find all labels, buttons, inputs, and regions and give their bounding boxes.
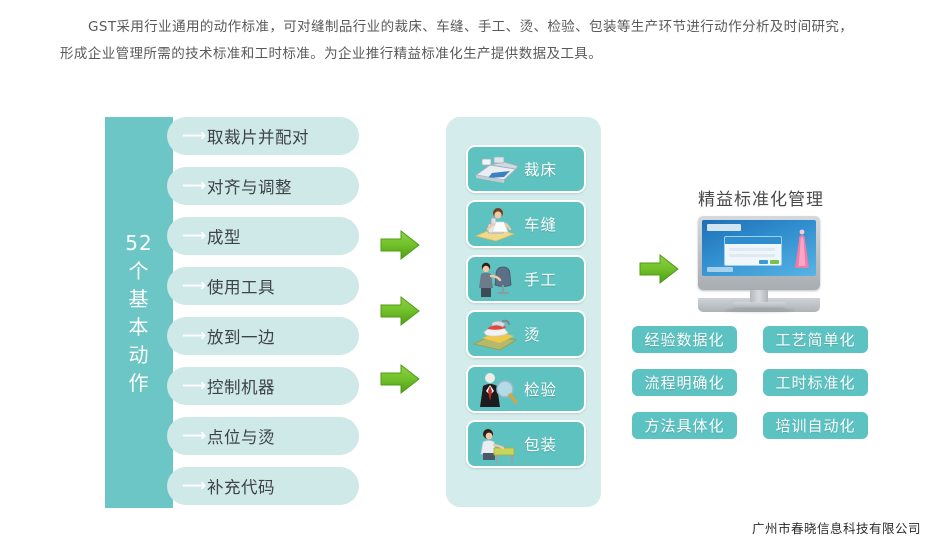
motion-row[interactable]: ⟶ 取裁片并配对 — [167, 117, 359, 155]
arrow-right-green-icon — [379, 229, 421, 261]
sewing-worker-icon — [470, 204, 522, 244]
motion-row[interactable]: ⟶ 控制机器 — [167, 367, 359, 405]
motion-count-char-0: 52 — [105, 229, 173, 257]
motion-count-vertical-text: 52 个 基 本 动 作 — [105, 229, 173, 397]
management-title: 精益标准化管理 — [656, 185, 866, 210]
process-label: 烫 — [524, 323, 541, 345]
company-footer: 广州市春晓信息科技有限公司 — [752, 518, 921, 537]
motion-label: 补充代码 — [207, 474, 275, 498]
motion-row[interactable]: ⟶ 补充代码 — [167, 467, 359, 505]
arrow-right-icon: ⟶ — [181, 378, 207, 395]
process-tile-packing[interactable]: 包装 — [466, 420, 586, 468]
motion-row[interactable]: ⟶ 使用工具 — [167, 267, 359, 305]
login-dialog-titlebar — [725, 237, 781, 244]
intro-line-1: GST采用行业通用的动作标准，可对缝制品行业的裁床、车缝、手工、烫、检验、包装等… — [60, 14, 880, 41]
motion-label: 成型 — [207, 224, 241, 248]
app-logo — [707, 224, 741, 231]
motion-label: 点位与烫 — [207, 424, 275, 448]
monitor-screen — [702, 220, 816, 276]
motion-count-char-5: 作 — [105, 369, 173, 397]
inspector-magnifier-icon — [470, 369, 522, 409]
process-label: 包装 — [524, 433, 557, 455]
login-alt-button — [770, 260, 779, 264]
result-tag[interactable]: 方法具体化 — [632, 412, 737, 439]
motion-count-char-3: 本 — [105, 313, 173, 341]
arrow-right-icon: ⟶ — [181, 328, 207, 345]
packing-worker-icon — [470, 424, 522, 464]
result-tag[interactable]: 工艺简单化 — [763, 326, 868, 353]
motion-list: ⟶ 取裁片并配对 ⟶ 对齐与调整 ⟶ 成型 ⟶ 使用工具 ⟶ 放到一边 ⟶ 控制… — [167, 117, 359, 517]
iron-press-icon — [470, 314, 522, 354]
screen-footer-text — [707, 267, 733, 272]
result-tag[interactable]: 经验数据化 — [632, 326, 737, 353]
motion-count-char-4: 动 — [105, 341, 173, 369]
arrow-right-icon: ⟶ — [181, 478, 207, 495]
login-field-1 — [729, 248, 775, 251]
arrow-right-green-icon — [638, 253, 680, 285]
motion-label: 对齐与调整 — [207, 174, 292, 198]
login-dialog — [724, 236, 782, 266]
motion-label: 取裁片并配对 — [207, 124, 309, 148]
motion-count-block: 52 个 基 本 动 作 — [105, 117, 173, 508]
motion-count-char-1: 个 — [105, 257, 173, 285]
process-tile-inspection[interactable]: 检验 — [466, 365, 586, 413]
dress-figure — [794, 228, 810, 270]
arrow-right-icon: ⟶ — [181, 228, 207, 245]
motion-row[interactable]: ⟶ 放到一边 — [167, 317, 359, 355]
motion-count-char-2: 基 — [105, 285, 173, 313]
process-label: 裁床 — [524, 158, 557, 180]
motion-label: 放到一边 — [207, 324, 275, 348]
slide-canvas: GST采用行业通用的动作标准，可对缝制品行业的裁床、车缝、手工、烫、检验、包装等… — [0, 0, 937, 547]
arrow-right-green-icon — [379, 363, 421, 395]
motion-row[interactable]: ⟶ 点位与烫 — [167, 417, 359, 455]
process-tile-ironing[interactable]: 烫 — [466, 310, 586, 358]
arrow-right-icon: ⟶ — [181, 178, 207, 195]
arrow-right-icon: ⟶ — [181, 128, 207, 145]
intro-line-2: 形成企业管理所需的技术标准和工时标准。为企业推行精益标准化生产提供数据及工具。 — [60, 41, 880, 68]
arrow-right-icon: ⟶ — [181, 428, 207, 445]
motion-row[interactable]: ⟶ 成型 — [167, 217, 359, 255]
login-field-2 — [729, 254, 775, 257]
monitor-shadow — [724, 308, 794, 313]
imac-monitor-icon:  — [698, 216, 820, 312]
cutting-machine-icon — [470, 149, 522, 189]
result-tag[interactable]: 流程明确化 — [632, 369, 737, 396]
login-button — [759, 260, 768, 264]
result-tag[interactable]: 工时标准化 — [763, 369, 868, 396]
motion-label: 使用工具 — [207, 274, 275, 298]
process-tile-cutting[interactable]: 裁床 — [466, 145, 586, 193]
arrow-right-green-icon — [379, 295, 421, 327]
process-label: 手工 — [524, 268, 557, 290]
tailor-mannequin-icon — [470, 259, 522, 299]
arrow-right-icon: ⟶ — [181, 278, 207, 295]
motion-row[interactable]: ⟶ 对齐与调整 — [167, 167, 359, 205]
result-tag[interactable]: 培训自动化 — [763, 412, 868, 439]
process-tile-sewing[interactable]: 车缝 — [466, 200, 586, 248]
process-tile-handwork[interactable]: 手工 — [466, 255, 586, 303]
motion-label: 控制机器 — [207, 374, 275, 398]
intro-paragraph: GST采用行业通用的动作标准，可对缝制品行业的裁床、车缝、手工、烫、检验、包装等… — [60, 14, 880, 68]
process-label: 检验 — [524, 378, 557, 400]
process-label: 车缝 — [524, 213, 557, 235]
